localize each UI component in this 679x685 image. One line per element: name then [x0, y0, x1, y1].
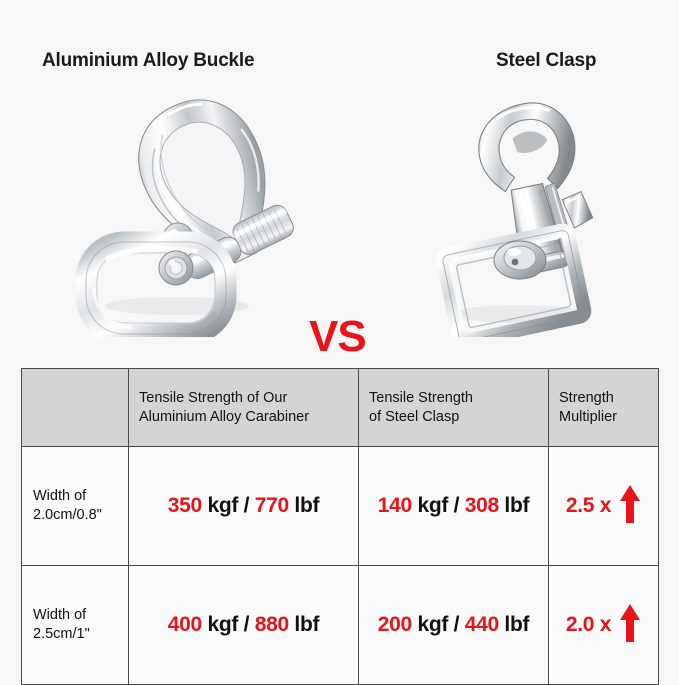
steel-clasp-icon — [424, 92, 624, 342]
header-line-2: of Steel Clasp — [369, 408, 538, 426]
kgf-value: 350 — [168, 494, 202, 517]
value-separator: / — [454, 613, 460, 636]
header-line-2: Aluminium Alloy Carabiner — [139, 408, 348, 426]
header-line-1: Strength — [559, 389, 648, 407]
aluminium-alloy-carabiner-icon — [72, 92, 312, 342]
spec-cell: Width of 2.0cm/0.8" — [22, 447, 129, 566]
kgf-unit: kgf — [207, 494, 238, 517]
lbf-unit: lbf — [504, 613, 529, 636]
lbf-unit: lbf — [504, 494, 529, 517]
up-arrow-icon — [619, 603, 641, 648]
aluminium-strength-cell: 350 kgf / 770 lbf — [129, 447, 359, 566]
spec-line-1: Width of — [33, 487, 128, 506]
kgf-unit: kgf — [417, 494, 448, 517]
product-heading-steel: Steel Clasp — [496, 50, 596, 72]
header-cell-spec — [22, 369, 129, 447]
value-separator: / — [454, 494, 460, 517]
table-row: Width of 2.0cm/0.8" 350 kgf / 770 lbf 14… — [22, 447, 659, 566]
lbf-value: 440 — [465, 613, 499, 636]
lbf-value: 880 — [255, 613, 289, 636]
header-line-2: Multiplier — [559, 408, 648, 426]
lbf-unit: lbf — [294, 613, 319, 636]
header-cell-aluminium: Tensile Strength of Our Aluminium Alloy … — [129, 369, 359, 447]
vs-label: VS — [309, 315, 366, 359]
value-separator: / — [244, 613, 250, 636]
product-heading-aluminium: Aluminium Alloy Buckle — [42, 50, 254, 72]
header-line-1: Tensile Strength — [369, 389, 538, 407]
kgf-value: 140 — [378, 494, 412, 517]
lbf-unit: lbf — [294, 494, 319, 517]
product-comparison-stage: VS — [0, 86, 679, 346]
kgf-value: 400 — [168, 613, 202, 636]
comparison-table: Tensile Strength of Our Aluminium Alloy … — [21, 368, 659, 685]
multiplier-cell: 2.0 x — [549, 566, 659, 685]
aluminium-strength-cell: 400 kgf / 880 lbf — [129, 566, 359, 685]
lbf-value: 770 — [255, 494, 289, 517]
lbf-value: 308 — [465, 494, 499, 517]
steel-strength-cell: 200 kgf / 440 lbf — [359, 566, 549, 685]
kgf-unit: kgf — [207, 613, 238, 636]
kgf-value: 200 — [378, 613, 412, 636]
value-separator: / — [244, 494, 250, 517]
spec-line-2: 2.0cm/0.8" — [33, 506, 128, 525]
header-cell-steel: Tensile Strength of Steel Clasp — [359, 369, 549, 447]
kgf-unit: kgf — [417, 613, 448, 636]
multiplier-value: 2.5 x — [566, 494, 611, 518]
table-row: Width of 2.5cm/1" 400 kgf / 880 lbf 200 … — [22, 566, 659, 685]
multiplier-value: 2.0 x — [566, 613, 611, 637]
up-arrow-icon — [619, 484, 641, 529]
table-header-row: Tensile Strength of Our Aluminium Alloy … — [22, 369, 659, 447]
spec-cell: Width of 2.5cm/1" — [22, 566, 129, 685]
multiplier-cell: 2.5 x — [549, 447, 659, 566]
steel-strength-cell: 140 kgf / 308 lbf — [359, 447, 549, 566]
header-line-1: Tensile Strength of Our — [139, 389, 348, 407]
header-cell-multiplier: Strength Multiplier — [549, 369, 659, 447]
spec-line-2: 2.5cm/1" — [33, 625, 128, 644]
spec-line-1: Width of — [33, 606, 128, 625]
